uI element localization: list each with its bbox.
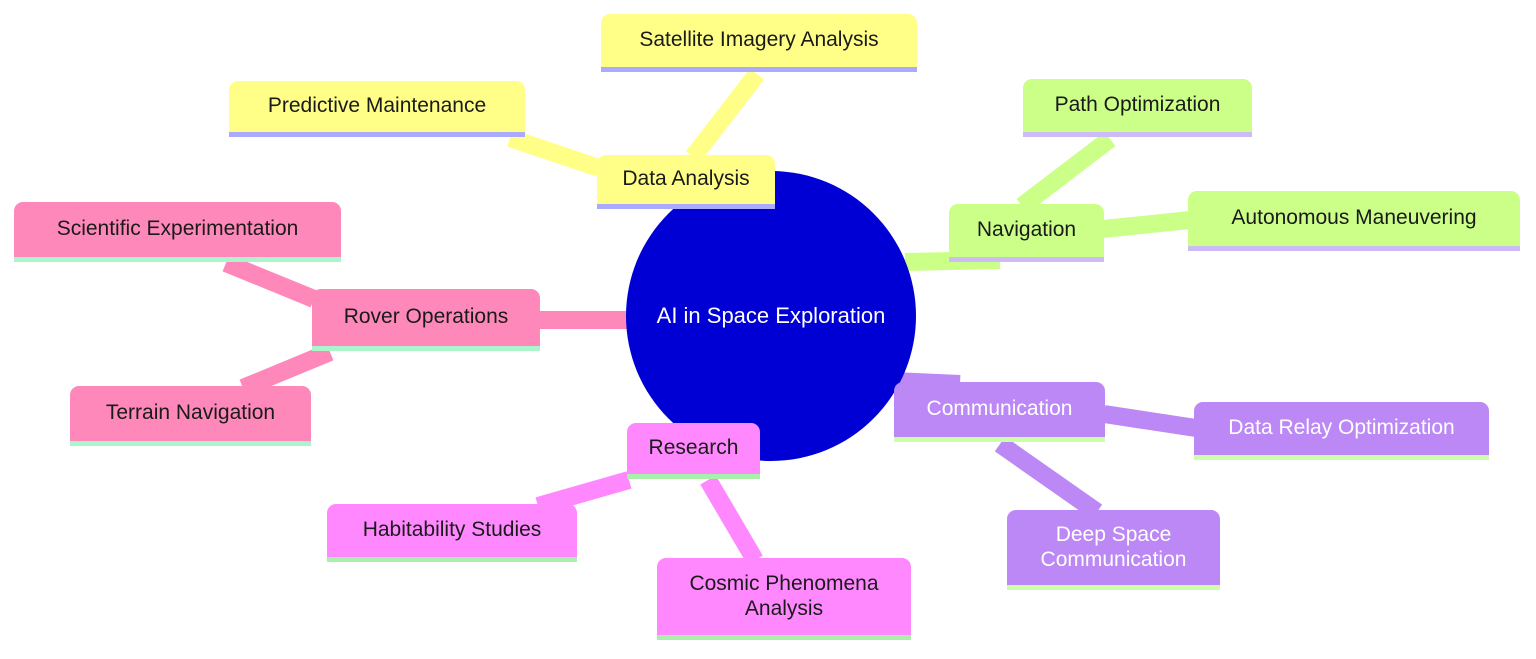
node-path-optimization[interactable]: Path Optimization [1023,79,1252,137]
node-data-relay-optimization[interactable]: Data Relay Optimization [1194,402,1489,460]
node-label-path-optimization: Path Optimization [1037,93,1238,118]
node-label-rover-operations: Rover Operations [326,305,526,330]
node-habitability-studies[interactable]: Habitability Studies [327,504,577,562]
edge-data-analysis-predictive [510,138,599,168]
node-cosmic-phenomena-analysis[interactable]: Cosmic Phenomena Analysis [657,558,911,640]
node-navigation[interactable]: Navigation [949,204,1104,262]
node-data-analysis[interactable]: Data Analysis [597,155,775,209]
edge-communication-relay [1104,414,1196,428]
node-terrain-navigation[interactable]: Terrain Navigation [70,386,311,446]
node-label-navigation: Navigation [963,218,1090,243]
node-label-habitability-studies: Habitability Studies [341,518,563,543]
root-node[interactable]: AI in Space Exploration [626,171,916,461]
edge-rover-scientific [226,263,314,299]
node-label-cosmic-phenomena-analysis: Cosmic Phenomena Analysis [671,572,897,622]
node-research[interactable]: Research [627,423,760,479]
node-rover-operations[interactable]: Rover Operations [312,289,540,351]
edge-navigation-autonomous [1103,220,1190,229]
edge-communication-deep [1000,444,1097,512]
node-label-deep-space-communication: Deep Space Communication [1021,523,1206,573]
node-label-predictive-maintenance: Predictive Maintenance [243,94,511,119]
edge-research-habitability [538,480,629,506]
node-label-scientific-experimentation: Scientific Experimentation [28,217,327,242]
node-predictive-maintenance[interactable]: Predictive Maintenance [229,81,525,137]
node-communication[interactable]: Communication [894,382,1105,442]
edge-navigation-path [1022,139,1110,206]
node-autonomous-maneuvering[interactable]: Autonomous Maneuvering [1188,191,1520,251]
root-node-label: AI in Space Exploration [657,303,886,329]
node-scientific-experimentation[interactable]: Scientific Experimentation [14,202,341,262]
mindmap-canvas: Data AnalysisSatellite Imagery AnalysisP… [0,0,1536,659]
node-label-data-relay-optimization: Data Relay Optimization [1208,416,1475,441]
edge-data-analysis-satellite [693,74,757,157]
node-label-data-analysis: Data Analysis [611,167,761,192]
node-label-autonomous-maneuvering: Autonomous Maneuvering [1202,206,1506,231]
node-label-terrain-navigation: Terrain Navigation [84,401,297,426]
edge-research-cosmic [708,480,755,560]
node-label-satellite-imagery-analysis: Satellite Imagery Analysis [615,28,903,53]
edge-rover-terrain [243,352,330,388]
node-label-communication: Communication [908,397,1091,422]
node-label-research: Research [641,436,746,461]
node-deep-space-communication[interactable]: Deep Space Communication [1007,510,1220,590]
node-satellite-imagery-analysis[interactable]: Satellite Imagery Analysis [601,14,917,72]
